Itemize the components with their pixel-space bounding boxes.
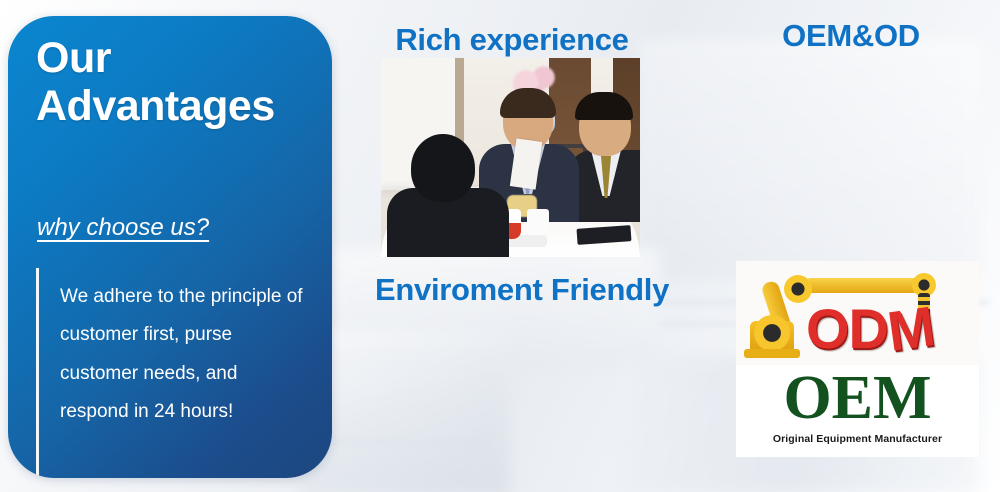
robot-arm-icon bbox=[804, 278, 920, 293]
advantages-card: Our Advantages why choose us? We adhere … bbox=[8, 16, 332, 478]
photo-odm-oem-logo: ODM OEM Original Equipment Manufacturer bbox=[736, 261, 979, 457]
our-advantages-banner: Our Advantages why choose us? We adhere … bbox=[0, 0, 1000, 492]
heading-rich-experience: Rich experience bbox=[352, 22, 672, 58]
vertical-rule-divider bbox=[36, 268, 39, 478]
person-left bbox=[387, 134, 509, 257]
heading-oem-odm: OEM&OD bbox=[706, 18, 996, 54]
title-line-1: Our bbox=[36, 34, 111, 82]
page-title: Our Advantages bbox=[36, 34, 318, 130]
heading-enviroment-friendly: Enviroment Friendly bbox=[352, 272, 692, 308]
title-line-2: Advantages bbox=[36, 82, 318, 130]
oem-caption: Original Equipment Manufacturer bbox=[736, 433, 979, 445]
oem-wordmark: OEM bbox=[736, 367, 979, 429]
odm-wordmark: ODM bbox=[806, 301, 979, 357]
card-body-text: We adhere to the principle of customer f… bbox=[60, 278, 308, 432]
photo-business-meeting bbox=[381, 58, 640, 257]
card-subtitle: why choose us? bbox=[37, 214, 209, 242]
